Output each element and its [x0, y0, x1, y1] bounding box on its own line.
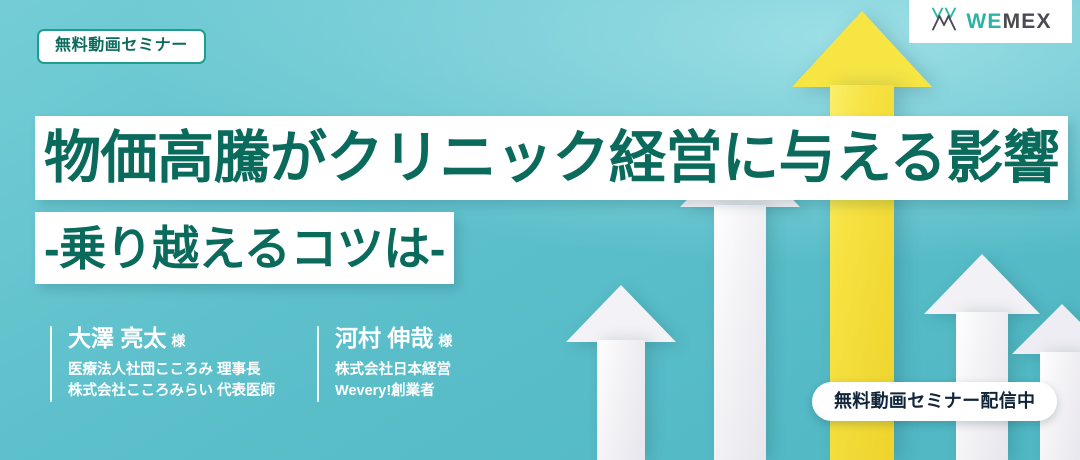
speaker-honorific: 様 [438, 333, 452, 349]
arrow-shaft [597, 340, 645, 460]
speaker-name: 河村 伸哉様 [335, 326, 452, 351]
speaker-honorific: 様 [171, 333, 185, 349]
seminar-banner: WEMEX 無料動画セミナー 物価高騰がクリニック経営に与える影響 -乗り越える… [0, 0, 1080, 460]
wemex-wordmark-we: WE [966, 10, 1002, 33]
speaker-info: 大澤 亮太様 医療法人社団こころみ 理事長 株式会社こころみらい 代表医師 [68, 326, 275, 402]
streaming-status-badge[interactable]: 無料動画セミナー配信中 [812, 382, 1057, 421]
speaker-list: 大澤 亮太様 医療法人社団こころみ 理事長 株式会社こころみらい 代表医師 河村… [50, 326, 452, 402]
speaker-org-line-2: 株式会社こころみらい 代表医師 [68, 381, 275, 402]
speaker-name-text: 大澤 亮太 [68, 325, 166, 351]
arrow-shaft [714, 205, 766, 460]
up-arrow-icon-left-small [566, 285, 676, 460]
wemex-wordmark-mex: MEX [1003, 10, 1052, 33]
wemex-logo[interactable]: WEMEX [909, 0, 1072, 43]
headline-line-2: -乗り越えるコツは- [35, 212, 454, 284]
speaker-org-line-1: 株式会社日本経営 [335, 360, 452, 381]
wemex-wordmark: WEMEX [966, 11, 1051, 32]
speaker-divider [317, 326, 319, 402]
arrow-head [566, 285, 676, 342]
speaker-card-2: 河村 伸哉様 株式会社日本経営 Wevery!創業者 [317, 326, 452, 402]
seminar-category-tag: 無料動画セミナー [37, 29, 206, 64]
wemex-x-mark-icon [929, 6, 959, 37]
speaker-name: 大澤 亮太様 [68, 326, 275, 351]
speaker-org-line-2: Wevery!創業者 [335, 381, 452, 402]
headline-line-1: 物価高騰がクリニック経営に与える影響 [35, 116, 1068, 200]
speaker-divider [50, 326, 52, 402]
speaker-info: 河村 伸哉様 株式会社日本経営 Wevery!創業者 [335, 326, 452, 402]
speaker-name-text: 河村 伸哉 [335, 325, 433, 351]
speaker-card-1: 大澤 亮太様 医療法人社団こころみ 理事長 株式会社こころみらい 代表医師 [50, 326, 275, 402]
speaker-org-line-1: 医療法人社団こころみ 理事長 [68, 360, 275, 381]
arrow-head [1012, 304, 1080, 354]
